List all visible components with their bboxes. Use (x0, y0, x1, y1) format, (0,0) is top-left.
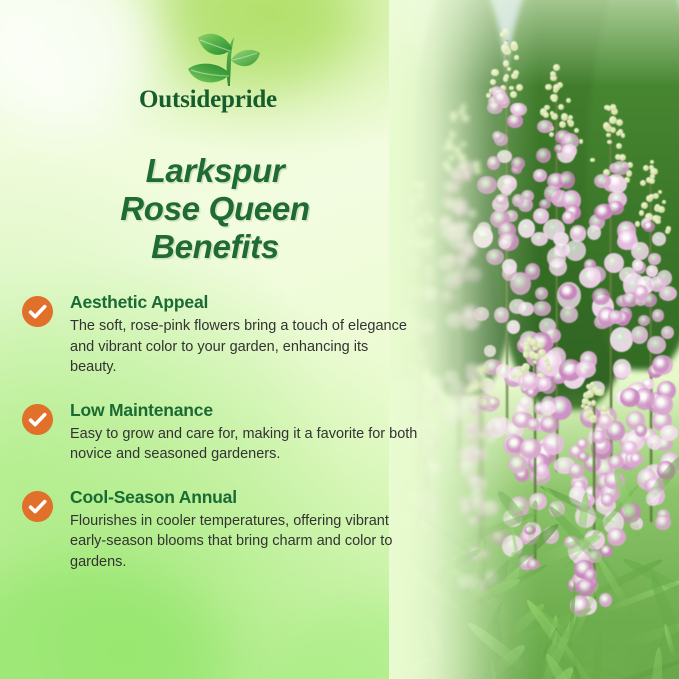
leaf-sprout-icon (176, 26, 272, 88)
larkspur-photo (389, 0, 679, 679)
benefit-item: Low Maintenance Easy to grow and care fo… (22, 400, 422, 465)
benefit-body: Easy to grow and care for, making it a f… (70, 424, 418, 465)
benefit-title: Cool-Season Annual (70, 487, 422, 507)
benefit-title: Aesthetic Appeal (70, 292, 422, 312)
photo-top-fade (389, 0, 679, 86)
page-title: Larkspur Rose Queen Benefits (0, 152, 430, 266)
benefit-item: Cool-Season Annual Flourishes in cooler … (22, 487, 422, 573)
benefit-body: Flourishes in cooler temperatures, offer… (70, 511, 418, 573)
brand-wordmark: Outsidepride (118, 86, 298, 114)
title-line-1: Larkspur (0, 152, 430, 190)
benefit-item: Aesthetic Appeal The soft, rose-pink flo… (22, 292, 422, 378)
check-circle-icon (22, 296, 53, 327)
benefit-body: The soft, rose-pink flowers bring a touc… (70, 316, 418, 378)
brand-logo[interactable]: Outsidepride (118, 26, 298, 118)
benefit-title: Low Maintenance (70, 400, 422, 420)
benefits-list: Aesthetic Appeal The soft, rose-pink flo… (22, 292, 422, 594)
infographic-card: Outsidepride Larkspur Rose Queen Benefit… (0, 0, 679, 679)
check-circle-icon (22, 404, 53, 435)
title-line-3: Benefits (0, 228, 430, 266)
title-line-2: Rose Queen (0, 190, 430, 228)
check-circle-icon (22, 491, 53, 522)
